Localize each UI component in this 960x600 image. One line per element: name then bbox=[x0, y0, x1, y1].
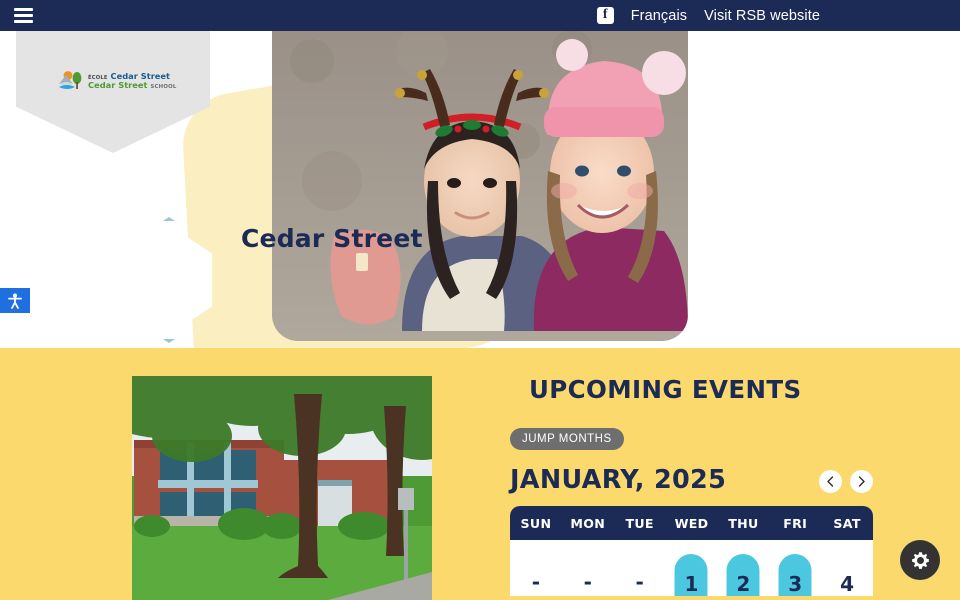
upcoming-events-heading: UPCOMING EVENTS bbox=[529, 375, 802, 404]
calendar-day-number: 2 bbox=[736, 574, 750, 596]
facebook-icon[interactable]: f bbox=[597, 7, 614, 24]
school-building-photo bbox=[132, 376, 432, 600]
weekday-thu: THU bbox=[717, 516, 769, 531]
top-bar: f Français Visit RSB website bbox=[0, 0, 960, 31]
page-title: Cedar Street bbox=[241, 224, 423, 253]
hero-section: ÉCOLE Cedar Street Cedar Street SCHOOL C… bbox=[0, 31, 960, 348]
accessibility-widget-button[interactable] bbox=[0, 288, 30, 313]
calendar-nav bbox=[819, 470, 873, 493]
weekday-sun: SUN bbox=[510, 516, 562, 531]
jump-months-button[interactable]: JUMP MONTHS bbox=[510, 428, 624, 450]
weekday-fri: FRI bbox=[769, 516, 821, 531]
weekday-mon: MON bbox=[562, 516, 614, 531]
calendar-cell-empty: - bbox=[510, 540, 562, 596]
top-bar-links: f Français Visit RSB website bbox=[597, 7, 820, 24]
logo-school-text: SCHOOL bbox=[150, 84, 176, 90]
calendar-day-4[interactable]: 4 bbox=[821, 540, 873, 596]
calendar-cell-empty: - bbox=[562, 540, 614, 596]
calendar-cell-empty: - bbox=[614, 540, 666, 596]
logo-line2: Cedar Street bbox=[88, 80, 148, 90]
calendar-prev-button[interactable] bbox=[819, 470, 842, 493]
calendar-empty-dash: - bbox=[635, 572, 643, 596]
calendar-day-2[interactable]: 2 bbox=[717, 540, 769, 596]
site-logo[interactable]: ÉCOLE Cedar Street Cedar Street SCHOOL bbox=[58, 70, 177, 92]
calendar-weekday-header: SUN MON TUE WED THU FRI SAT bbox=[510, 506, 873, 540]
calendar-day-number: 4 bbox=[840, 574, 854, 596]
gear-icon bbox=[910, 550, 931, 571]
calendar-day-grid: - - - 1 2 3 4 bbox=[510, 540, 873, 596]
calendar-day-3[interactable]: 3 bbox=[769, 540, 821, 596]
calendar-empty-dash: - bbox=[584, 572, 592, 596]
hero-photo bbox=[272, 31, 688, 341]
upcoming-events-section: UPCOMING EVENTS JUMP MONTHS JANUARY, 202… bbox=[0, 348, 960, 600]
accessibility-icon bbox=[8, 293, 22, 309]
hamburger-bar bbox=[14, 14, 33, 17]
calendar-day-number: 1 bbox=[685, 574, 699, 596]
logo-badge bbox=[16, 31, 210, 153]
calendar-day-1[interactable]: 1 bbox=[666, 540, 718, 596]
weekday-sat: SAT bbox=[821, 516, 873, 531]
calendar-day-number: 3 bbox=[788, 574, 802, 596]
school-logo-icon bbox=[58, 70, 85, 92]
language-link-francais[interactable]: Français bbox=[631, 8, 687, 24]
events-calendar: SUN MON TUE WED THU FRI SAT - - - 1 2 3 … bbox=[510, 506, 873, 596]
calendar-month-label: JANUARY, 2025 bbox=[510, 465, 726, 495]
hamburger-bar bbox=[14, 20, 33, 23]
chevron-right-icon bbox=[857, 476, 866, 487]
settings-gear-button[interactable] bbox=[900, 540, 940, 580]
hamburger-menu-icon[interactable] bbox=[14, 8, 33, 23]
hamburger-bar bbox=[14, 8, 33, 11]
logo-text: ÉCOLE Cedar Street Cedar Street SCHOOL bbox=[88, 72, 177, 91]
weekday-tue: TUE bbox=[614, 516, 666, 531]
calendar-next-button[interactable] bbox=[850, 470, 873, 493]
visit-rsb-website-link[interactable]: Visit RSB website bbox=[704, 8, 820, 24]
weekday-wed: WED bbox=[666, 516, 718, 531]
calendar-empty-dash: - bbox=[532, 572, 540, 596]
chevron-left-icon bbox=[826, 476, 835, 487]
